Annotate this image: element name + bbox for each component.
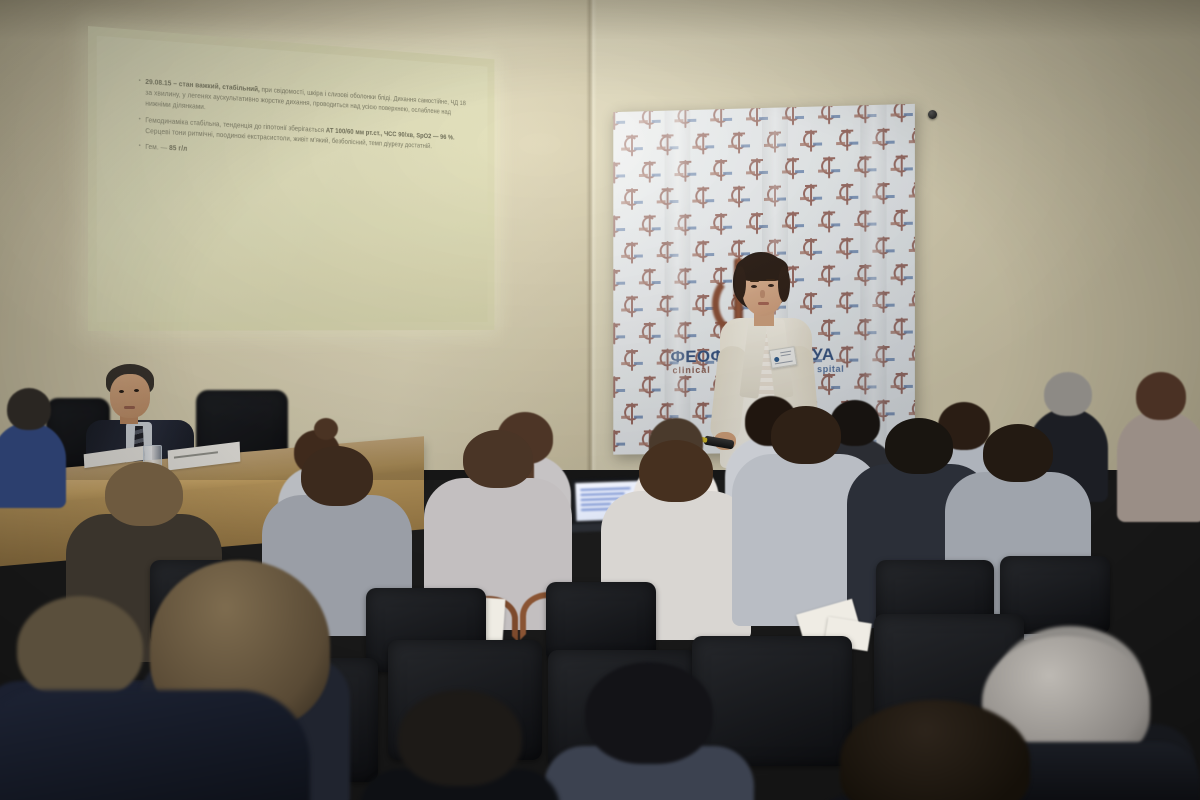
wall-lighting xyxy=(0,0,1200,480)
audience-head xyxy=(398,690,522,786)
audience-head xyxy=(1136,372,1186,420)
audience-body xyxy=(1117,411,1200,522)
audience-head xyxy=(7,388,51,430)
screen-line-4 xyxy=(581,503,611,506)
audience-hair-bun xyxy=(314,418,338,440)
audience-member xyxy=(370,690,550,800)
audience-head xyxy=(17,596,143,700)
audience-member xyxy=(1128,372,1194,522)
audience-head xyxy=(463,430,533,488)
audience-head xyxy=(585,662,713,764)
audience-head xyxy=(983,424,1053,482)
audience-member xyxy=(556,662,742,800)
audience-head xyxy=(639,440,713,502)
audience-head xyxy=(105,462,183,526)
audience-head xyxy=(301,446,373,506)
audience-head xyxy=(771,406,841,464)
foreground-shoulders-left xyxy=(0,690,310,800)
audience-body xyxy=(0,422,66,508)
audience-member xyxy=(0,388,58,508)
audience-head xyxy=(1044,372,1092,416)
audience-head xyxy=(885,418,953,474)
conference-photo: •29.08.15 – стан важкий, стабільний, при… xyxy=(0,0,1200,800)
